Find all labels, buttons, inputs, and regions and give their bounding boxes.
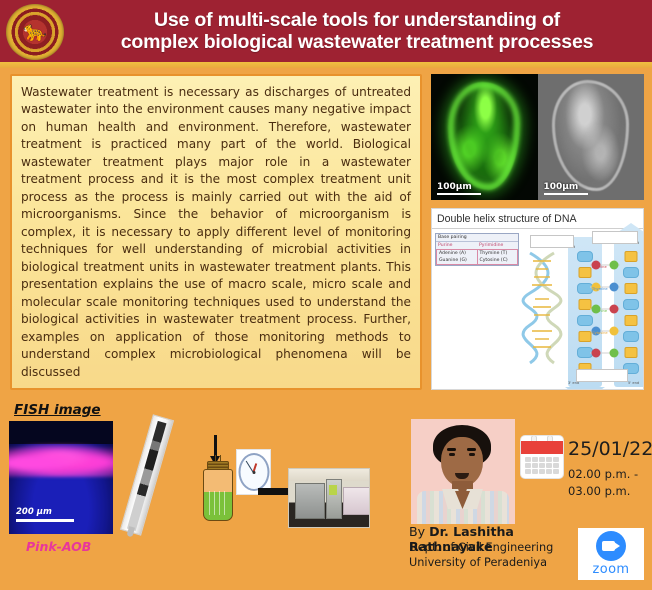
fish-caption: Pink-AOB xyxy=(26,539,91,554)
base-pairs-group xyxy=(588,253,622,381)
speaker-department: Dept. of Civil Engineering xyxy=(409,540,589,555)
zoom-logo: zoom xyxy=(578,528,644,580)
label-thymine: Thymine xyxy=(592,287,608,291)
deoxyribose xyxy=(625,251,638,262)
base-pairing-legend-title: Base pairing xyxy=(436,234,518,241)
portrait-brow-left xyxy=(447,448,456,451)
fluorescence-micrograph: 100μm xyxy=(431,74,538,200)
scale-bar-left: 100μm xyxy=(437,182,481,196)
portrait-eye-left xyxy=(449,453,455,456)
dna-panel: Double helix structure of DNA Base pairi… xyxy=(431,208,644,390)
callout-top-left xyxy=(530,235,574,248)
label-cytosine: Cytosine xyxy=(592,331,608,335)
label-adenine: Adenine xyxy=(592,265,607,269)
abstract-box: Wastewater treatment is necessary as dis… xyxy=(10,74,422,390)
legend-adenine: Adenine (A) xyxy=(437,250,478,257)
scale-bar-right-line xyxy=(544,193,588,196)
legend-guanine: Guanine (G) xyxy=(437,257,478,264)
clock-face xyxy=(238,453,269,491)
zoom-wordmark: zoom xyxy=(593,562,630,577)
nucleotide xyxy=(623,331,639,342)
deoxyribose xyxy=(625,283,638,294)
portrait-eye-right xyxy=(469,453,475,456)
calendar-header-band xyxy=(521,441,563,454)
base-pairing-legend: Base pairing Purine Pyrimidine Adenine (… xyxy=(435,233,519,266)
label-five-prime-right: 5' end xyxy=(628,381,639,385)
clock-center-pin xyxy=(252,471,255,474)
fish-aob-band xyxy=(9,444,113,478)
legend-col-purine: Purine xyxy=(436,242,477,249)
fish-section-title: FISH image xyxy=(14,402,101,418)
fish-scale-bar: 200 μm xyxy=(16,507,74,522)
legend-col-pyrimidine: Pyrimidine xyxy=(477,242,518,249)
header-accent-strip xyxy=(0,62,652,68)
dna-diagram: Base pairing Purine Pyrimidine Adenine (… xyxy=(432,229,643,389)
fish-scale-label: 200 μm xyxy=(16,507,52,517)
fish-background-layer xyxy=(9,421,113,444)
granule-rim xyxy=(448,82,520,190)
strand-left-arrowhead xyxy=(565,387,605,390)
event-time-line-1: 02.00 p.m. - xyxy=(568,466,652,483)
abstract-text: Wastewater treatment is necessary as dis… xyxy=(21,84,411,381)
speaker-affiliation: Dept. of Civil Engineering University of… xyxy=(409,540,589,570)
event-time-line-2: 03.00 p.m. xyxy=(568,483,652,500)
university-crest-lion-icon: 🐆 xyxy=(6,4,64,60)
event-date: 25/01/22 xyxy=(568,438,652,460)
legend-cytosine: Cytosine (C) xyxy=(478,257,518,264)
title-line-1: Use of multi-scale tools for understandi… xyxy=(70,9,644,31)
scale-bar-right: 100μm xyxy=(544,182,588,196)
base-pairing-legend-header: Purine Pyrimidine xyxy=(436,241,518,249)
sample-vial-icon xyxy=(203,455,233,521)
portrait-brow-right xyxy=(467,448,476,451)
fish-scale-line xyxy=(16,519,74,522)
legend-row-1: Adenine (A) Thymine (T) xyxy=(437,250,517,257)
granule-brightfield xyxy=(552,80,629,191)
speaker-portrait xyxy=(411,419,515,524)
microelectrode-probe-icon xyxy=(120,414,174,535)
lab-computer xyxy=(343,487,370,515)
portrait-face xyxy=(441,437,483,487)
poster-header: 🐆 Use of multi-scale tools for understan… xyxy=(0,0,652,62)
probe-core xyxy=(127,421,167,531)
deoxyribose xyxy=(625,315,638,326)
fish-micrograph: 200 μm xyxy=(9,421,113,534)
event-time: 02.00 p.m. - 03.00 p.m. xyxy=(568,466,652,501)
calendar-icon xyxy=(521,436,563,478)
callout-bottom xyxy=(576,369,628,382)
legend-thymine: Thymine (T) xyxy=(478,250,518,257)
poster-root: 🐆 Use of multi-scale tools for understan… xyxy=(0,0,652,590)
callout-top-right xyxy=(592,231,638,244)
speaker-university: University of Peradeniya xyxy=(409,555,589,570)
vial-cap xyxy=(207,461,229,470)
lab-instrument-photo xyxy=(288,468,370,528)
legend-row-2: Guanine (G) Cytosine (C) xyxy=(437,257,517,264)
nucleotide xyxy=(623,299,639,310)
scale-bar-left-line xyxy=(437,193,481,196)
calendar-grid xyxy=(525,457,559,474)
base-pairing-legend-rows: Adenine (A) Thymine (T) Guanine (G) Cyto… xyxy=(436,249,518,265)
deoxyribose xyxy=(625,347,638,358)
vial-body xyxy=(203,469,233,521)
zoom-camera-icon xyxy=(596,531,626,561)
brightfield-micrograph: 100μm xyxy=(538,74,645,200)
scale-bar-right-label: 100μm xyxy=(544,182,579,192)
byline-prefix: By xyxy=(409,524,429,539)
scale-bar-left-label: 100μm xyxy=(437,182,472,192)
title-line-2: complex biological wastewater treatment … xyxy=(70,31,644,53)
double-helix-icon xyxy=(520,251,566,371)
label-guanine: Guanine xyxy=(592,309,607,313)
label-three-prime-left: 3' end xyxy=(568,381,579,385)
crest-lion-glyph: 🐆 xyxy=(23,23,47,42)
vial-liquid xyxy=(209,491,229,515)
page-title: Use of multi-scale tools for understandi… xyxy=(70,9,644,53)
arrow-down-icon xyxy=(214,435,217,457)
lab-analyzer xyxy=(295,483,325,519)
nucleotide xyxy=(623,267,639,278)
microscopy-panel: 100μm 100μm xyxy=(431,74,644,200)
probe-tip xyxy=(126,526,135,537)
lab-analyzer-screen xyxy=(329,485,337,495)
